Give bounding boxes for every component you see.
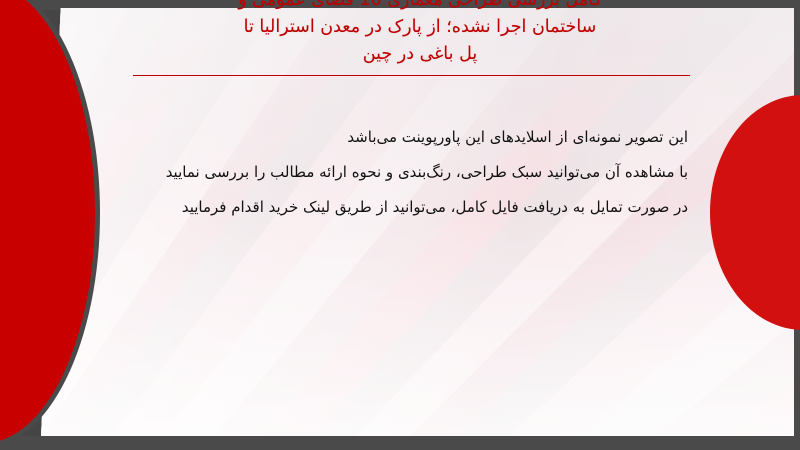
slide-title-line-2: ساختمان اجرا نشده؛ از پارک در معدن استرا… (150, 14, 690, 41)
presentation-slide: کامل بررسی طراحی معماری 10 فضای عمومی و … (0, 0, 800, 450)
body-text-line-3: در صورت تمایل به دریافت فایل کامل، می‌تو… (120, 190, 688, 225)
body-text-line-1: این تصویر نمونه‌ای از اسلایدهای این پاور… (120, 120, 688, 155)
slide-body-text: این تصویر نمونه‌ای از اسلایدهای این پاور… (120, 120, 688, 225)
slide-title-line-3: پل باغی در چین (150, 41, 690, 68)
slide-frame-bottom (0, 436, 800, 450)
body-text-line-2: با مشاهده آن می‌توانید سبک طراحی، رنگ‌بن… (120, 155, 688, 190)
slide-title: کامل بررسی طراحی معماری 10 فضای عمومی و … (150, 0, 690, 68)
slide-title-line-1: کامل بررسی طراحی معماری 10 فضای عمومی و (150, 0, 690, 14)
title-underline-rule (133, 75, 690, 76)
